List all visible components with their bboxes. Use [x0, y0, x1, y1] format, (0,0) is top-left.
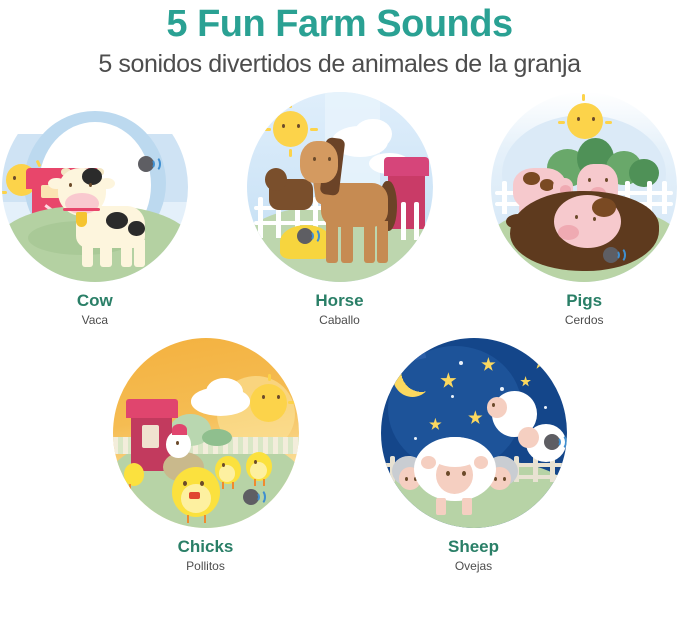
horse-illustration[interactable] [247, 92, 433, 282]
animal-card-sheep[interactable]: Sheep Ovejas [379, 338, 569, 574]
speaker-sound-icon[interactable] [138, 155, 157, 174]
horse-scene-wrap[interactable] [247, 92, 433, 282]
animal-label-es: Pollitos [186, 559, 225, 574]
animal-card-horse[interactable]: Horse Caballo [245, 92, 435, 328]
animal-label-en: Cow [77, 291, 113, 311]
chicks-illustration[interactable] [113, 338, 299, 528]
animal-row-2: Chicks Pollitos [0, 338, 679, 574]
sheep-scene-wrap[interactable] [381, 338, 567, 528]
cow-scene-wrap[interactable] [2, 92, 188, 282]
speaker-sound-icon[interactable] [544, 433, 563, 452]
page-subtitle: 5 sonidos divertidos de animales de la g… [0, 46, 679, 80]
cloud-icon [354, 119, 391, 149]
animal-label-es: Caballo [319, 313, 360, 328]
chicks-scene-wrap[interactable] [113, 338, 299, 528]
animal-label-en: Pigs [566, 291, 602, 311]
page-header: 5 Fun Farm Sounds 5 sonidos divertidos d… [0, 0, 679, 80]
speaker-sound-icon[interactable] [243, 488, 262, 507]
cow-illustration[interactable] [2, 92, 188, 282]
page-title: 5 Fun Farm Sounds [0, 2, 679, 46]
animal-label-en: Horse [315, 291, 363, 311]
speaker-sound-icon[interactable] [297, 227, 316, 246]
animal-label-es: Ovejas [455, 559, 492, 574]
pigs-scene-wrap[interactable] [491, 92, 677, 282]
pigs-illustration[interactable] [491, 92, 677, 282]
mud-splat [506, 214, 530, 229]
animal-row-1: Cow Vaca [0, 92, 679, 328]
animal-label-es: Cerdos [565, 313, 604, 328]
speaker-sound-icon[interactable] [603, 246, 622, 265]
animal-card-cow[interactable]: Cow Vaca [0, 92, 190, 328]
animal-card-pigs[interactable]: Pigs Cerdos [489, 92, 679, 328]
star-dot [459, 361, 463, 365]
animal-card-chicks[interactable]: Chicks Pollitos [111, 338, 301, 574]
sheep-illustration[interactable] [381, 338, 567, 528]
animal-label-es: Vaca [82, 313, 108, 328]
animal-label-en: Chicks [178, 537, 234, 557]
cloud-icon [206, 378, 243, 407]
star-dot [414, 437, 417, 440]
bush-icon [202, 429, 232, 446]
animal-label-en: Sheep [448, 537, 499, 557]
